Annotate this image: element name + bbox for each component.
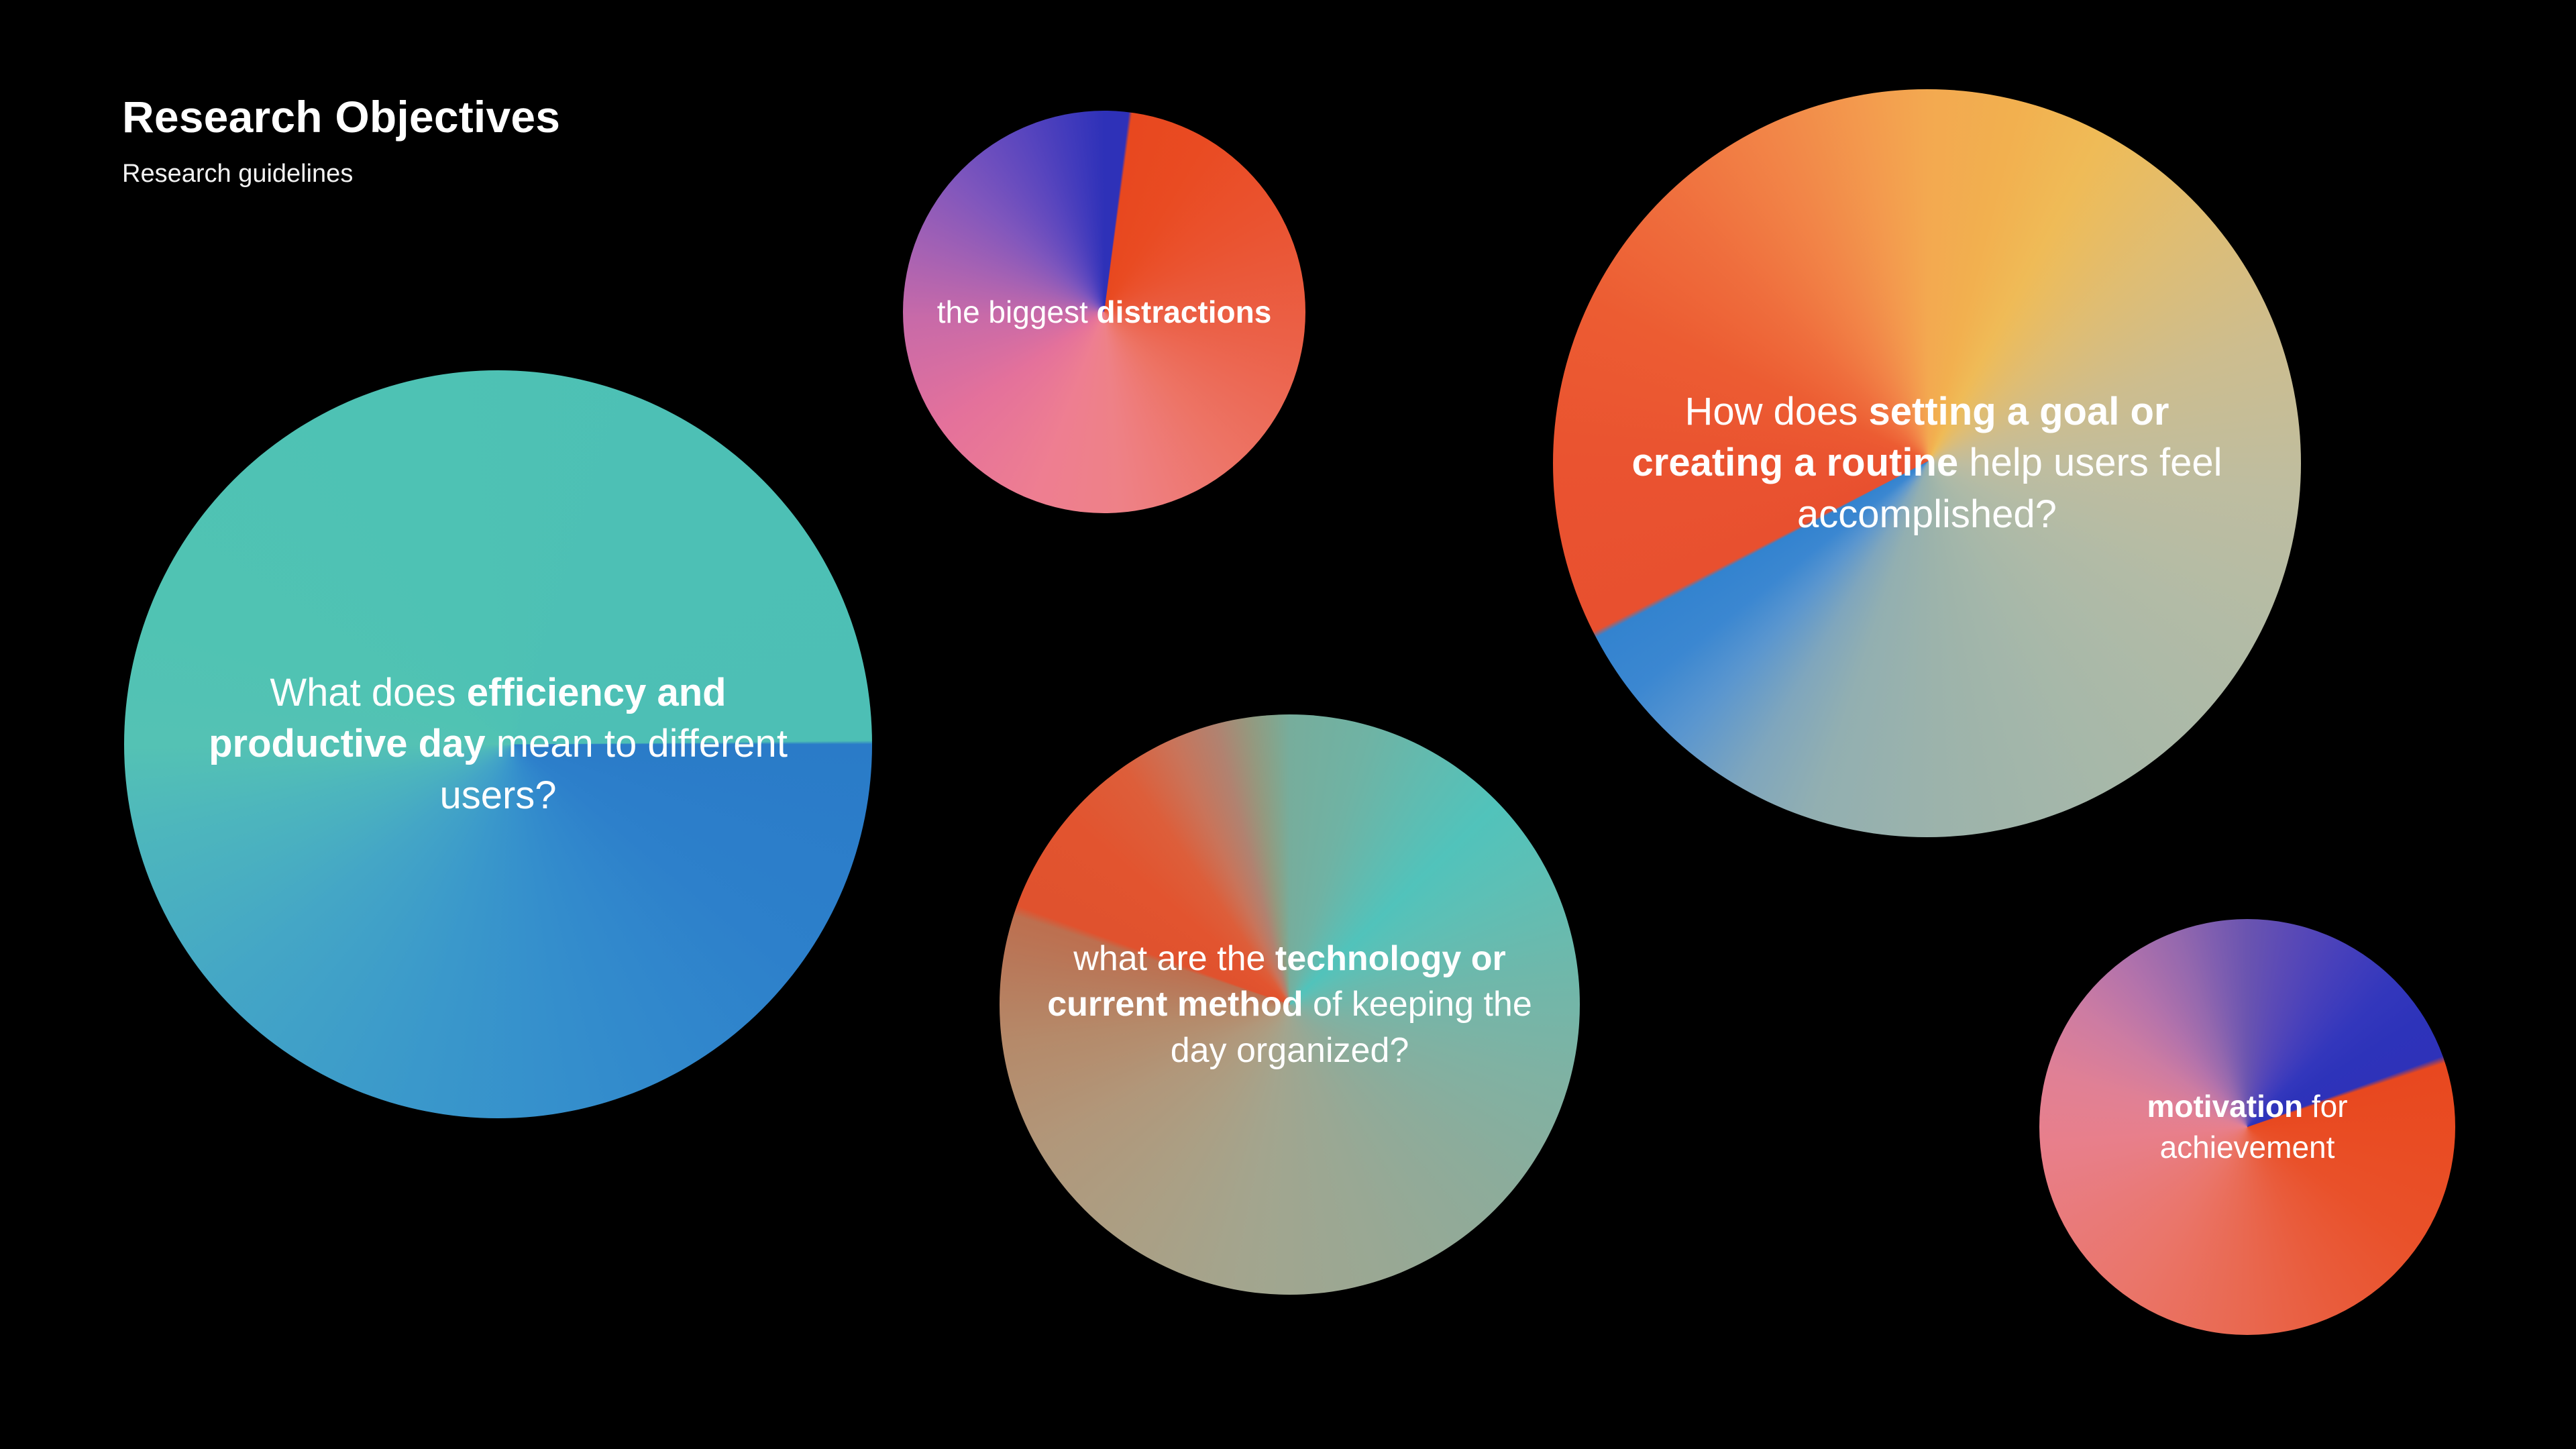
research-objective-bubble-motivation[interactable]: motivation for achievement (2039, 919, 2455, 1335)
bubble-label-efficiency: What does efficiency and productive day … (124, 667, 872, 822)
research-objective-bubble-goal[interactable]: How does setting a goal or creating a ro… (1553, 89, 2301, 837)
bubble-label-goal: How does setting a goal or creating a ro… (1553, 386, 2301, 541)
bubble-label-distractions: the biggest distractions (905, 292, 1304, 333)
research-objective-bubble-efficiency[interactable]: What does efficiency and productive day … (124, 370, 872, 1118)
slide-header: Research Objectives Research guidelines (122, 94, 560, 189)
bubble-label-method: what are the technology or current metho… (1000, 936, 1580, 1074)
research-objective-bubble-method[interactable]: what are the technology or current metho… (1000, 714, 1580, 1295)
slide-canvas: Research Objectives Research guidelines … (0, 0, 2576, 1449)
page-title: Research Objectives (122, 94, 560, 140)
page-subtitle: Research guidelines (122, 160, 560, 189)
bubble-label-motivation: motivation for achievement (2039, 1086, 2455, 1167)
research-objective-bubble-distractions[interactable]: the biggest distractions (903, 111, 1305, 513)
